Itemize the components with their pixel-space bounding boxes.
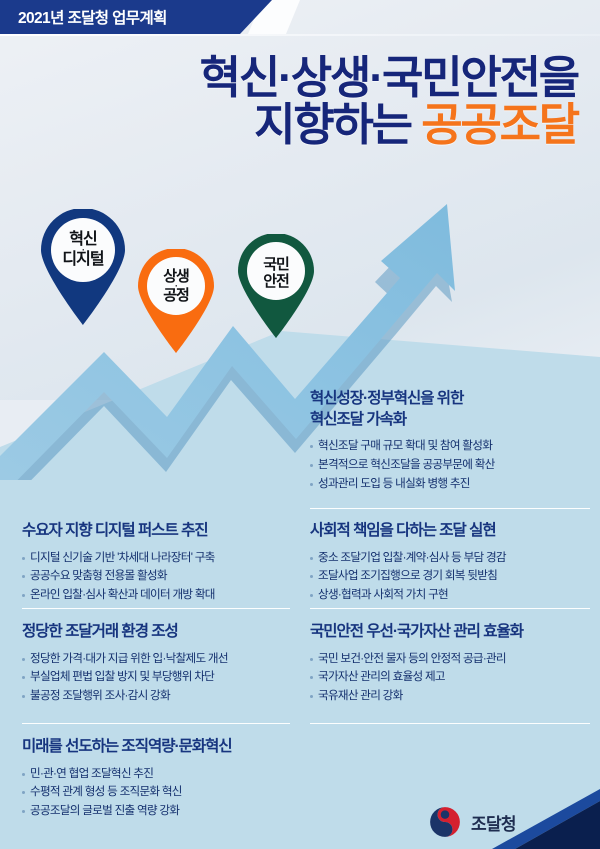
block-innovation-procurement-bullets: 혁신조달 구매 규모 확대 및 참여 활성화 본격적으로 혁신조달을 공공부문에…	[310, 437, 592, 493]
list-item-text: 본격적으로 혁신조달을 공공부문에 확산	[318, 456, 495, 475]
bullet-dot-icon	[22, 773, 25, 776]
title-line-2-plain: 지향하는	[254, 99, 421, 150]
pin-win-win-fairness-label: 상생 · 공정	[133, 249, 219, 323]
list-item: 상생·협력과 사회적 가치 구현	[310, 586, 592, 605]
list-item: 공공수요 맞춤형 전용몰 활성화	[22, 567, 300, 586]
list-item-text: 수평적 관계 형성 등 조직문화 혁신	[30, 783, 182, 802]
list-item: 정당한 가격·대가 지급 위한 입·낙찰제도 개선	[22, 650, 300, 669]
pin-public-safety-label: 국민 안전	[233, 236, 319, 310]
taegeuk-logo-icon	[428, 805, 462, 839]
banner-label: 2021년 조달청 업무계획	[0, 6, 167, 28]
list-item-text: 정당한 가격·대가 지급 위한 입·낙찰제도 개선	[30, 650, 228, 669]
divider-left-1	[22, 608, 290, 609]
footer-logo: 조달청	[428, 805, 516, 839]
bullet-dot-icon	[310, 557, 313, 560]
list-item: 국유재산 관리 강화	[310, 687, 592, 706]
block-fair-trade-environment-bullets: 정당한 가격·대가 지급 위한 입·낙찰제도 개선 부실업체 편법 입찰 방지 …	[22, 650, 300, 706]
block-digital-first-title: 수요자 지향 디지털 퍼스트 추진	[22, 521, 300, 542]
pin-3-line-1: 국민	[263, 257, 289, 272]
bullet-dot-icon	[22, 810, 25, 813]
pin-innovation-digital-label: 혁신 · 디지털	[35, 209, 131, 291]
divider-right-2	[310, 608, 590, 609]
list-item-text: 국민 보건·안전 물자 등의 안정적 공급·관리	[318, 650, 506, 669]
list-item: 혁신조달 구매 규모 확대 및 참여 활성화	[310, 437, 592, 456]
pin-3-line-2: 안전	[263, 274, 289, 289]
block-innovation-procurement-title-line-2: 혁신조달 가속화	[310, 410, 592, 431]
block-public-safety-assets-bullets: 국민 보건·안전 물자 등의 안정적 공급·관리 국가자산 관리의 효율성 제고…	[310, 650, 592, 706]
list-item: 성과관리 도입 등 내실화 병행 추진	[310, 475, 592, 494]
bullet-dot-icon	[22, 594, 25, 597]
block-fair-trade-environment-title: 정당한 조달거래 환경 조성	[22, 622, 300, 643]
list-item: 공공조달의 글로벌 진출 역량 강화	[22, 802, 300, 821]
bullet-dot-icon	[310, 483, 313, 486]
title-line-2-accent: 공공조달	[421, 99, 578, 150]
list-item: 국가자산 관리의 효율성 제고	[310, 668, 592, 687]
block-public-safety-assets: 국민안전 우선·국가자산 관리 효율화 국민 보건·안전 물자 등의 안정적 공…	[310, 622, 592, 706]
block-fair-trade-environment: 정당한 조달거래 환경 조성 정당한 가격·대가 지급 위한 입·낙찰제도 개선…	[22, 622, 300, 706]
block-innovation-procurement-title-line-1: 혁신성장·정부혁신을 위한	[310, 389, 592, 410]
block-social-responsibility: 사회적 책임을 다하는 조달 실현 중소 조달기업 입찰·계약·심사 등 부담 …	[310, 521, 592, 605]
list-item-text: 국가자산 관리의 효율성 제고	[318, 668, 445, 687]
list-item-text: 공공조달의 글로벌 진출 역량 강화	[30, 802, 179, 821]
block-organization-culture-bullets: 민·관·연 협업 조달혁신 추진 수평적 관계 형성 등 조직문화 혁신 공공조…	[22, 765, 300, 821]
list-item-text: 공공수요 맞춤형 전용몰 활성화	[30, 567, 167, 586]
list-item-text: 혁신조달 구매 규모 확대 및 참여 활성화	[318, 437, 492, 456]
bullet-dot-icon	[310, 695, 313, 698]
title-line-1: 혁신·상생·국민안전을	[200, 55, 578, 102]
list-item-text: 상생·협력과 사회적 가치 구현	[318, 586, 448, 605]
block-innovation-procurement: 혁신성장·정부혁신을 위한 혁신조달 가속화 혁신조달 구매 규모 확대 및 참…	[310, 389, 592, 494]
bullet-dot-icon	[22, 557, 25, 560]
block-organization-culture-title: 미래를 선도하는 조직역량·문화혁신	[22, 737, 300, 758]
list-item-text: 조달사업 조기집행으로 경기 회복 뒷받침	[318, 567, 497, 586]
bullet-dot-icon	[22, 658, 25, 661]
list-item: 디지털 신기술 기반 '차세대 나라장터' 구축	[22, 549, 300, 568]
list-item-text: 중소 조달기업 입찰·계약·심사 등 부담 경감	[318, 549, 506, 568]
title-line-2: 지향하는 공공조달	[200, 102, 578, 149]
block-social-responsibility-bullets: 중소 조달기업 입찰·계약·심사 등 부담 경감 조달사업 조기집행으로 경기 …	[310, 549, 592, 605]
list-item: 온라인 입찰·심사 확산과 데이터 개방 확대	[22, 586, 300, 605]
pin-1-line-2: 디지털	[62, 252, 103, 268]
list-item: 불공정 조달행위 조사·감시 강화	[22, 687, 300, 706]
bullet-dot-icon	[310, 464, 313, 467]
list-item-text: 불공정 조달행위 조사·감시 강화	[30, 687, 170, 706]
bullet-dot-icon	[310, 658, 313, 661]
list-item: 수평적 관계 형성 등 조직문화 혁신	[22, 783, 300, 802]
divider-right-1	[310, 508, 590, 509]
bullet-dot-icon	[310, 575, 313, 578]
header-banner: 2021년 조달청 업무계획	[0, 0, 272, 34]
bullet-dot-icon	[22, 791, 25, 794]
agency-name: 조달청	[471, 810, 516, 835]
divider-left-2	[22, 723, 290, 724]
list-item-text: 민·관·연 협업 조달혁신 추진	[30, 765, 153, 784]
list-item-text: 온라인 입찰·심사 확산과 데이터 개방 확대	[30, 586, 215, 605]
list-item: 중소 조달기업 입찰·계약·심사 등 부담 경감	[310, 549, 592, 568]
block-social-responsibility-title: 사회적 책임을 다하는 조달 실현	[310, 521, 592, 542]
list-item: 국민 보건·안전 물자 등의 안정적 공급·관리	[310, 650, 592, 669]
list-item: 부실업체 편법 입찰 방지 및 부당행위 차단	[22, 668, 300, 687]
list-item: 본격적으로 혁신조달을 공공부문에 확산	[310, 456, 592, 475]
list-item-text: 성과관리 도입 등 내실화 병행 추진	[318, 475, 470, 494]
bullet-dot-icon	[310, 676, 313, 679]
bullet-dot-icon	[22, 575, 25, 578]
list-item-text: 국유재산 관리 강화	[318, 687, 403, 706]
banner-underline	[0, 34, 600, 36]
divider-right-3	[310, 723, 590, 724]
page-title: 혁신·상생·국민안전을 지향하는 공공조달	[200, 55, 578, 149]
bullet-dot-icon	[22, 676, 25, 679]
bullet-dot-icon	[22, 695, 25, 698]
block-digital-first-bullets: 디지털 신기술 기반 '차세대 나라장터' 구축 공공수요 맞춤형 전용몰 활성…	[22, 549, 300, 605]
poster: 2021년 조달청 업무계획 혁신·상생·국민안전을 지향하는 공공조달 혁신 …	[0, 0, 600, 849]
bullet-dot-icon	[310, 445, 313, 448]
block-digital-first: 수요자 지향 디지털 퍼스트 추진 디지털 신기술 기반 '차세대 나라장터' …	[22, 521, 300, 605]
bullet-dot-icon	[310, 594, 313, 597]
block-public-safety-assets-title: 국민안전 우선·국가자산 관리 효율화	[310, 622, 592, 643]
list-item-text: 부실업체 편법 입찰 방지 및 부당행위 차단	[30, 668, 214, 687]
list-item: 조달사업 조기집행으로 경기 회복 뒷받침	[310, 567, 592, 586]
pin-2-line-2: 공정	[163, 288, 189, 303]
list-item-text: 디지털 신기술 기반 '차세대 나라장터' 구축	[30, 549, 215, 568]
block-organization-culture: 미래를 선도하는 조직역량·문화혁신 민·관·연 협업 조달혁신 추진 수평적 …	[22, 737, 300, 821]
list-item: 민·관·연 협업 조달혁신 추진	[22, 765, 300, 784]
